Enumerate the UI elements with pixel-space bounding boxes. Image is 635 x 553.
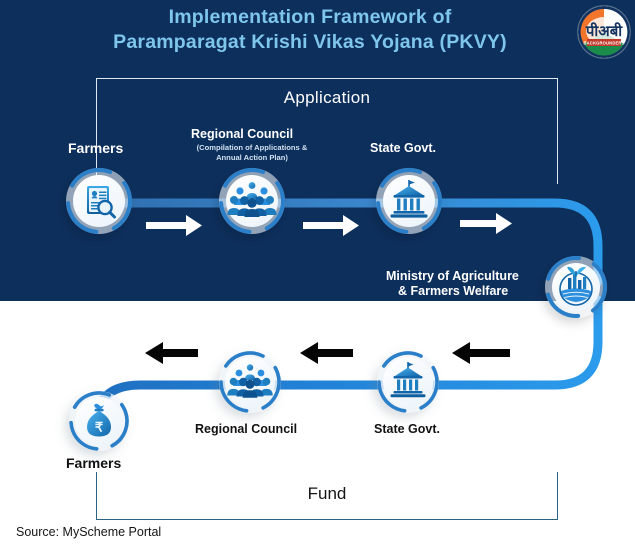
label-regional-council-bottom: Regional Council (195, 422, 297, 437)
label-ministry-line-2: & Farmers Welfare (398, 284, 508, 299)
application-arrow-1 (146, 215, 202, 236)
application-arrow-3 (460, 213, 512, 234)
label-farmers-bottom: Farmers (66, 455, 121, 472)
label-farmers-top: Farmers (68, 140, 123, 157)
application-flow-line (96, 203, 598, 282)
source-credit: Source: MyScheme Portal (16, 525, 161, 539)
svg-text:₹: ₹ (95, 420, 104, 435)
label-regional-council-top: Regional Council (191, 127, 293, 142)
fund-arrow-2 (300, 342, 353, 364)
label-ministry-line-1: Ministry of Agriculture (386, 269, 519, 284)
label-state-govt-bottom: State Govt. (374, 422, 440, 437)
infographic-canvas: Implementation Framework of Paramparagat… (0, 0, 635, 553)
application-arrow-2 (303, 215, 359, 236)
fund-arrow-3 (145, 342, 198, 364)
fund-arrow-1 (452, 342, 510, 364)
sublabel-regional-council-top-line-2: Annual Action Plan) (172, 153, 332, 163)
label-state-govt-top: State Govt. (370, 141, 436, 156)
sublabel-regional-council-top-line-1: (Compilation of Applications & (172, 143, 332, 153)
